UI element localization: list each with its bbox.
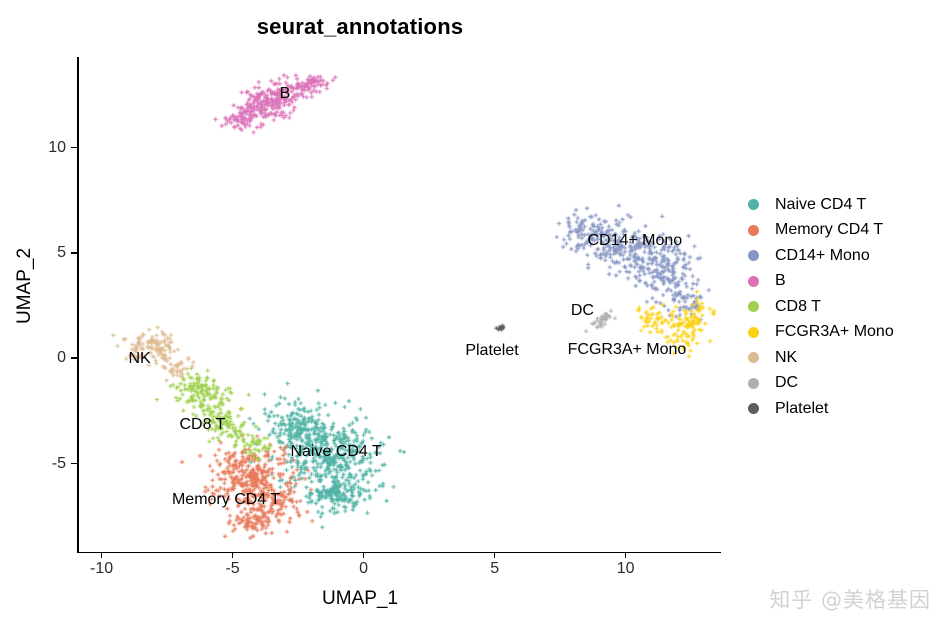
legend-label: B bbox=[775, 272, 786, 290]
legend-label: CD14+ Mono bbox=[775, 247, 870, 265]
y-tick-mark bbox=[71, 463, 77, 465]
y-tick-label: -5 bbox=[4, 455, 66, 473]
y-tick-mark bbox=[71, 357, 77, 359]
scatter-canvas bbox=[78, 57, 720, 552]
watermark: 知乎 @美格基因 bbox=[769, 584, 931, 614]
x-tick-label: 10 bbox=[617, 560, 635, 578]
legend-swatch-icon bbox=[748, 327, 759, 338]
legend-label: FCGR3A+ Mono bbox=[775, 323, 894, 341]
legend-item[interactable]: CD14+ Mono bbox=[748, 243, 948, 269]
legend-swatch-icon bbox=[748, 276, 759, 287]
legend-swatch-icon bbox=[748, 352, 759, 363]
x-tick-mark bbox=[232, 552, 234, 558]
legend-swatch-icon bbox=[748, 301, 759, 312]
x-tick-mark bbox=[494, 552, 496, 558]
legend-label: Platelet bbox=[775, 400, 828, 418]
y-tick-mark bbox=[71, 252, 77, 254]
legend-swatch-icon bbox=[748, 378, 759, 389]
x-tick-label: -5 bbox=[225, 560, 239, 578]
legend-label: DC bbox=[775, 374, 798, 392]
y-axis-title: UMAP_2 bbox=[14, 166, 36, 406]
x-tick-label: 5 bbox=[490, 560, 499, 578]
legend-item[interactable]: CD8 T bbox=[748, 294, 948, 320]
x-tick-mark bbox=[101, 552, 103, 558]
x-tick-label: 0 bbox=[359, 560, 368, 578]
legend: Naive CD4 TMemory CD4 TCD14+ MonoBCD8 TF… bbox=[748, 192, 948, 422]
legend-label: Memory CD4 T bbox=[775, 221, 883, 239]
legend-swatch-icon bbox=[748, 250, 759, 261]
y-axis-line bbox=[77, 57, 79, 553]
legend-item[interactable]: B bbox=[748, 269, 948, 295]
legend-label: Naive CD4 T bbox=[775, 196, 866, 214]
x-tick-label: -10 bbox=[90, 560, 113, 578]
legend-item[interactable]: Naive CD4 T bbox=[748, 192, 948, 218]
umap-plot-page: seurat_annotations Naive CD4 TMemory CD4… bbox=[0, 0, 951, 632]
x-tick-mark bbox=[363, 552, 365, 558]
legend-label: CD8 T bbox=[775, 298, 821, 316]
legend-item[interactable]: DC bbox=[748, 371, 948, 397]
legend-item[interactable]: Memory CD4 T bbox=[748, 218, 948, 244]
plot-panel: Naive CD4 TMemory CD4 TCD14+ MonoBCD8 TF… bbox=[78, 57, 720, 552]
legend-item[interactable]: FCGR3A+ Mono bbox=[748, 320, 948, 346]
legend-item[interactable]: NK bbox=[748, 345, 948, 371]
page-title: seurat_annotations bbox=[0, 14, 720, 40]
legend-swatch-icon bbox=[748, 403, 759, 414]
legend-label: NK bbox=[775, 349, 797, 367]
legend-item[interactable]: Platelet bbox=[748, 396, 948, 422]
x-tick-mark bbox=[625, 552, 627, 558]
y-tick-mark bbox=[71, 147, 77, 149]
legend-swatch-icon bbox=[748, 199, 759, 210]
x-axis-title: UMAP_1 bbox=[0, 588, 720, 610]
y-tick-label: 10 bbox=[4, 139, 66, 157]
legend-swatch-icon bbox=[748, 225, 759, 236]
